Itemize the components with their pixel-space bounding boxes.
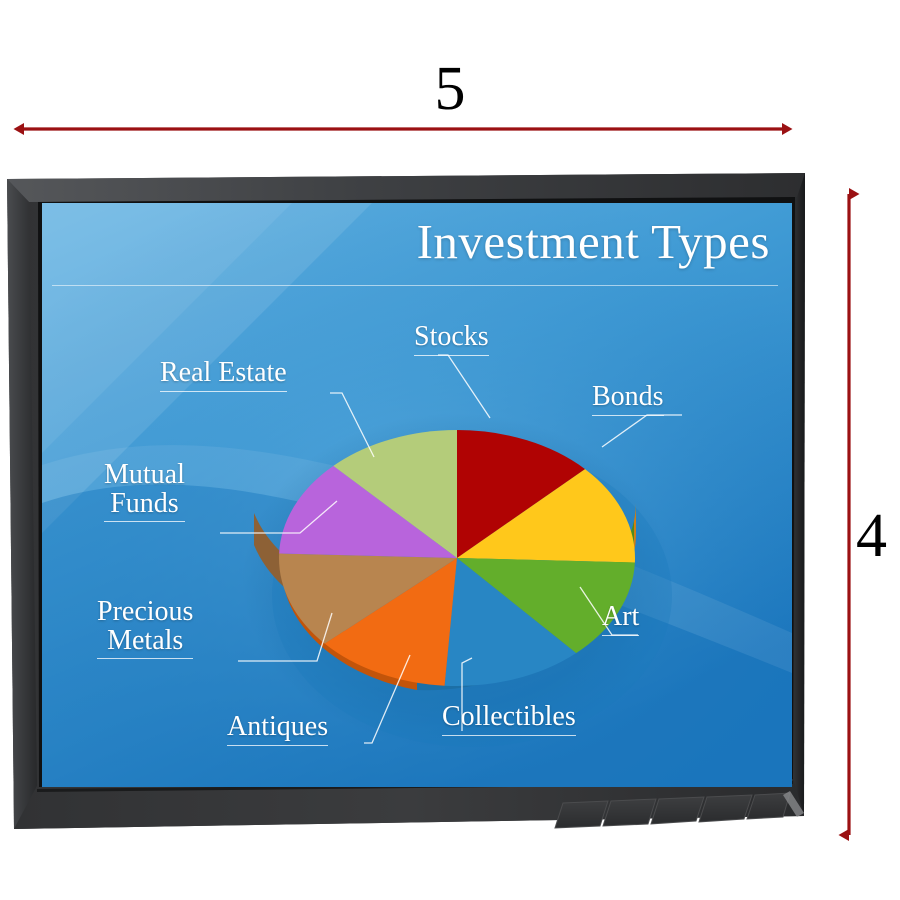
width-dimension-label: 5 bbox=[0, 58, 900, 120]
pie-top-face bbox=[279, 430, 635, 686]
pie-label-stocks: Stocks bbox=[414, 323, 489, 356]
height-dimension-label: 4 bbox=[856, 505, 887, 567]
monitor-screen: Investment Types bbox=[42, 203, 792, 787]
pie-label-real-estate: Real Estate bbox=[160, 359, 287, 392]
image-canvas: 5 4 bbox=[0, 0, 900, 900]
pie-label-antiques: Antiques bbox=[227, 713, 328, 746]
pie-label-bonds: Bonds bbox=[592, 383, 664, 416]
pie-label-collectibles: Collectibles bbox=[442, 703, 576, 736]
monitor: Investment Types bbox=[4, 171, 808, 833]
pie-label-mutual-funds: Mutual Funds bbox=[104, 461, 185, 522]
pie-label-art: Art bbox=[602, 603, 639, 636]
pie-label-precious-metals: Precious Metals bbox=[97, 598, 193, 659]
